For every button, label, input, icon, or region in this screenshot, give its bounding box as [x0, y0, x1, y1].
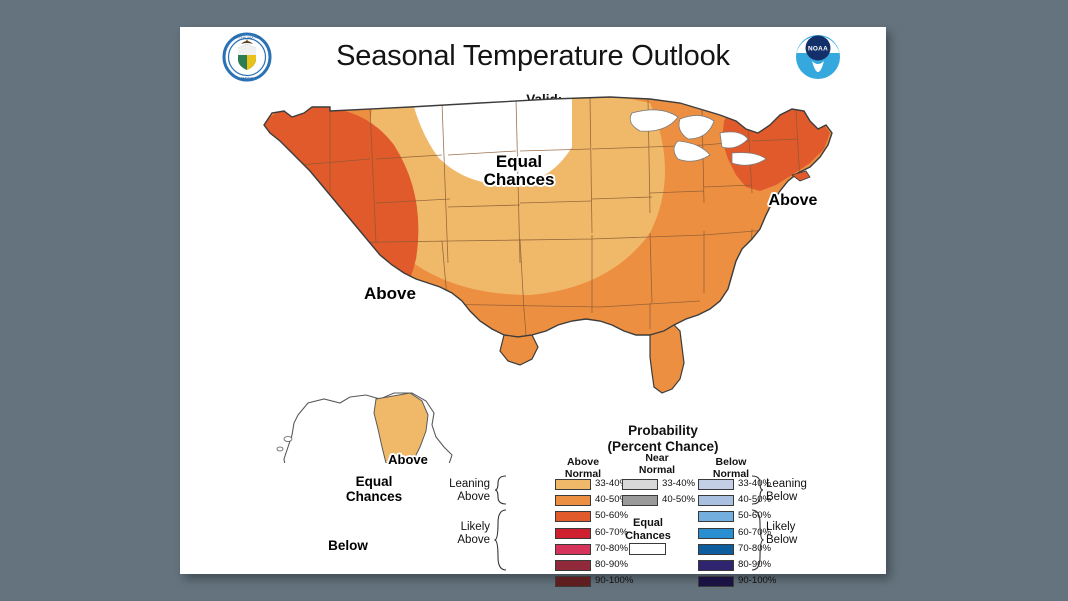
- brace-likely-above: [494, 509, 508, 571]
- legend: Probability (Percent Chance) Above Norma…: [498, 423, 828, 573]
- legend-likely-above-label: Likely Above: [432, 521, 490, 547]
- legend-swatch-below-0: [698, 479, 734, 490]
- brace-leaning-above: [494, 475, 508, 505]
- legend-equal-chances-label: Equal Chances: [616, 517, 680, 542]
- legend-equal-chances-swatch: [629, 543, 666, 555]
- map-label-alaska-below: Below: [308, 539, 388, 554]
- legend-leaning-below-label: Leaning Below: [766, 478, 828, 504]
- map-label-ak-equal-l2: Chances: [346, 489, 402, 504]
- legend-col-head-near: Near Normal: [620, 453, 694, 476]
- legend-title-l1: Probability: [628, 423, 698, 438]
- brace-leaning-below: [750, 475, 764, 505]
- legend-swatch-near-1: [622, 495, 658, 506]
- legend-swatch-below-4: [698, 544, 734, 555]
- legend-swatch-above-0: [555, 479, 591, 490]
- screenshot-root: NATIONAL WEATHER SERVICE NOAA Seasonal T…: [0, 0, 1068, 601]
- map-label-alaska-equal-chances: Equal Chances: [322, 475, 426, 504]
- legend-swatch-label-below-6: 90-100%: [738, 575, 776, 586]
- legend-likely-below-label: Likely Below: [766, 521, 828, 547]
- legend-swatch-above-2: [555, 511, 591, 522]
- legend-title: Probability (Percent Chance): [498, 423, 828, 454]
- legend-swatch-below-2: [698, 511, 734, 522]
- legend-swatch-above-4: [555, 544, 591, 555]
- alaska-inset: [277, 393, 454, 463]
- svg-text:NATIONAL WEATHER: NATIONAL WEATHER: [233, 36, 260, 40]
- legend-swatch-label-above-4: 70-80%: [595, 543, 628, 554]
- legend-swatch-below-6: [698, 576, 734, 587]
- legend-swatch-above-5: [555, 560, 591, 571]
- map-label-ak-equal-l1: Equal: [356, 474, 393, 489]
- legend-swatch-label-near-1: 40-50%: [662, 494, 695, 505]
- legend-swatch-label-above-6: 90-100%: [595, 575, 633, 586]
- legend-leaning-above-label: Leaning Above: [432, 478, 490, 504]
- conus-regions: [234, 81, 832, 393]
- legend-swatch-label-above-5: 80-90%: [595, 559, 628, 570]
- brace-likely-below: [750, 509, 764, 571]
- legend-swatch-above-1: [555, 495, 591, 506]
- legend-swatch-above-6: [555, 576, 591, 587]
- map-graphic: [180, 63, 886, 463]
- legend-swatch-below-3: [698, 528, 734, 539]
- legend-col-head-above: Above Normal: [546, 457, 620, 480]
- legend-swatch-near-0: [622, 479, 658, 490]
- legend-swatch-above-3: [555, 528, 591, 539]
- outlook-card: NATIONAL WEATHER SERVICE NOAA Seasonal T…: [180, 27, 886, 574]
- legend-swatch-below-5: [698, 560, 734, 571]
- legend-swatch-label-near-0: 33-40%: [662, 478, 695, 489]
- outlook-map: Equal Chances Above Above Above Equal Ch…: [180, 63, 886, 463]
- legend-swatch-below-1: [698, 495, 734, 506]
